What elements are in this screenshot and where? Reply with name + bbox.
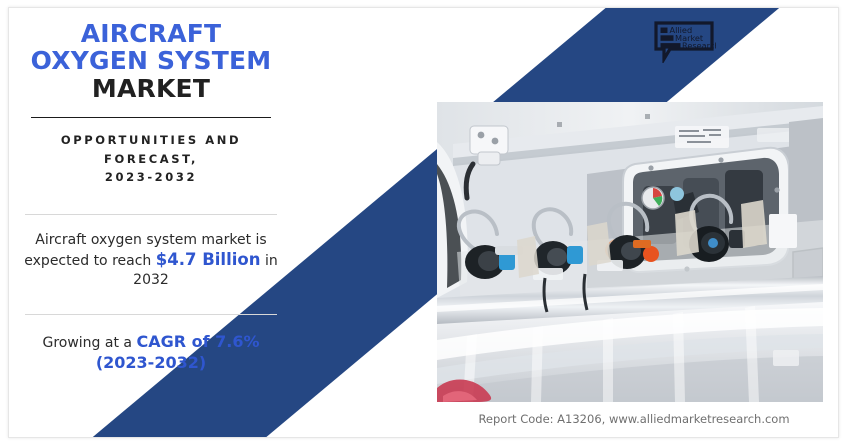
- page-title: AIRCRAFT OXYGEN SYSTEM MARKET: [21, 20, 281, 103]
- banner-inner: AIRCRAFT OXYGEN SYSTEM MARKET OPPORTUNIT…: [8, 7, 839, 438]
- title-line-2: OXYGEN SYSTEM: [21, 47, 281, 74]
- market-size-statement: Aircraft oxygen system market is expecte…: [21, 231, 281, 290]
- cagr-value: CAGR of 7.6%: [136, 332, 259, 351]
- report-banner: AIRCRAFT OXYGEN SYSTEM MARKET OPPORTUNIT…: [0, 0, 847, 445]
- title-divider: [31, 117, 271, 118]
- stats-divider: [25, 314, 277, 315]
- aircraft-oxygen-compartment-photo: [437, 102, 823, 402]
- title-line-3: MARKET: [21, 74, 281, 103]
- subtitle-block: OPPORTUNITIES AND FORECAST, 2023-2032: [21, 131, 281, 187]
- subtitle-line-2: FORECAST,: [21, 150, 281, 169]
- cagr-text-before: Growing at a: [42, 335, 136, 351]
- report-code-footer: Report Code: A13206, www.alliedmarketres…: [439, 412, 829, 426]
- market-size-value: $4.7 Billion: [156, 250, 261, 269]
- subtitle-line-1: OPPORTUNITIES AND: [21, 131, 281, 150]
- subtitle-line-3: 2023-2032: [21, 168, 281, 187]
- left-content-panel: AIRCRAFT OXYGEN SYSTEM MARKET OPPORTUNIT…: [9, 8, 293, 438]
- svg-text:Research: Research: [682, 41, 716, 51]
- allied-market-research-logo[interactable]: Allied Market Research: [654, 21, 716, 63]
- cagr-statement: Growing at a CAGR of 7.6%(2023-2032): [21, 332, 281, 374]
- cagr-period: (2023-2032): [96, 353, 206, 372]
- subtitle-divider: [25, 214, 277, 215]
- title-line-1: AIRCRAFT: [21, 20, 281, 47]
